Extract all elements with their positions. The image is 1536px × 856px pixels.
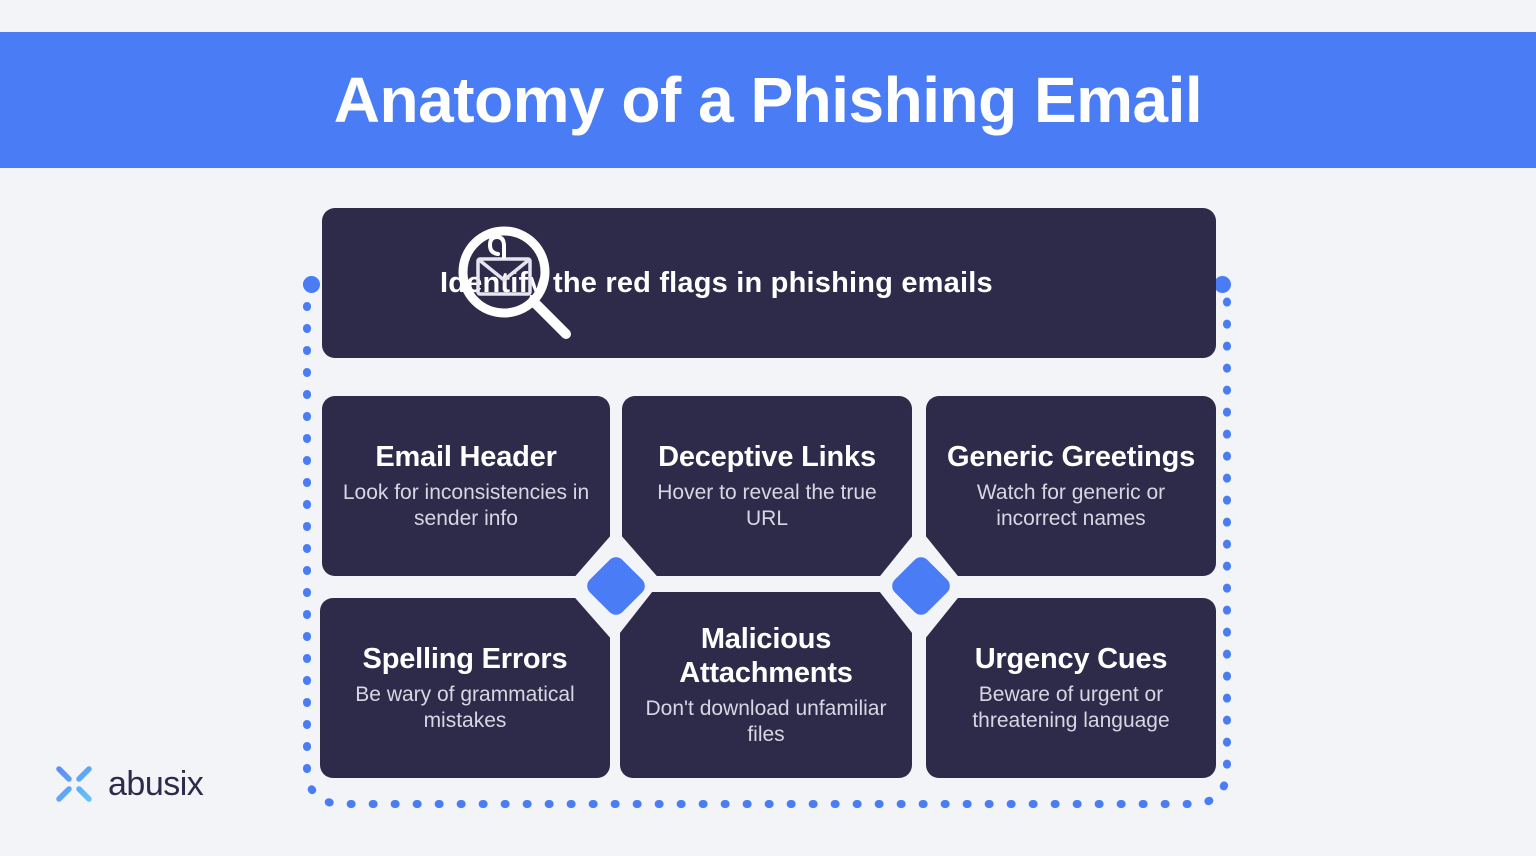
brand-name: abusix bbox=[108, 767, 203, 801]
card-title: Generic Greetings bbox=[947, 440, 1195, 474]
card-description: Hover to reveal the true URL bbox=[640, 480, 894, 533]
card-description: Beware of urgent or threatening language bbox=[944, 682, 1198, 735]
diamond-connector-icon bbox=[583, 553, 648, 618]
card-malicious-attachments[interactable]: Malicious Attachments Don't download unf… bbox=[620, 592, 912, 778]
card-title: Malicious Attachments bbox=[638, 622, 894, 690]
content-stage: Identify the red flags in phishing email… bbox=[0, 0, 1536, 856]
card-title: Urgency Cues bbox=[975, 642, 1168, 676]
card-title: Deceptive Links bbox=[658, 440, 876, 474]
card-generic-greetings[interactable]: Generic Greetings Watch for generic or i… bbox=[926, 396, 1216, 576]
card-deceptive-links[interactable]: Deceptive Links Hover to reveal the true… bbox=[622, 396, 912, 576]
card-urgency-cues[interactable]: Urgency Cues Beware of urgent or threate… bbox=[926, 598, 1216, 778]
card-title: Spelling Errors bbox=[363, 642, 568, 676]
card-title: Email Header bbox=[375, 440, 556, 474]
abusix-x-icon bbox=[52, 762, 96, 806]
magnifier-envelope-hook-icon bbox=[452, 222, 578, 344]
card-description: Watch for generic or incorrect names bbox=[944, 480, 1198, 533]
brand-logo[interactable]: abusix bbox=[52, 762, 203, 806]
diamond-connector-icon bbox=[888, 553, 953, 618]
card-description: Don't download unfamiliar files bbox=[638, 696, 894, 749]
card-email-header[interactable]: Email Header Look for inconsistencies in… bbox=[322, 396, 610, 576]
card-spelling-errors[interactable]: Spelling Errors Be wary of grammatical m… bbox=[320, 598, 610, 778]
card-description: Be wary of grammatical mistakes bbox=[338, 682, 592, 735]
card-description: Look for inconsistencies in sender info bbox=[340, 480, 592, 533]
